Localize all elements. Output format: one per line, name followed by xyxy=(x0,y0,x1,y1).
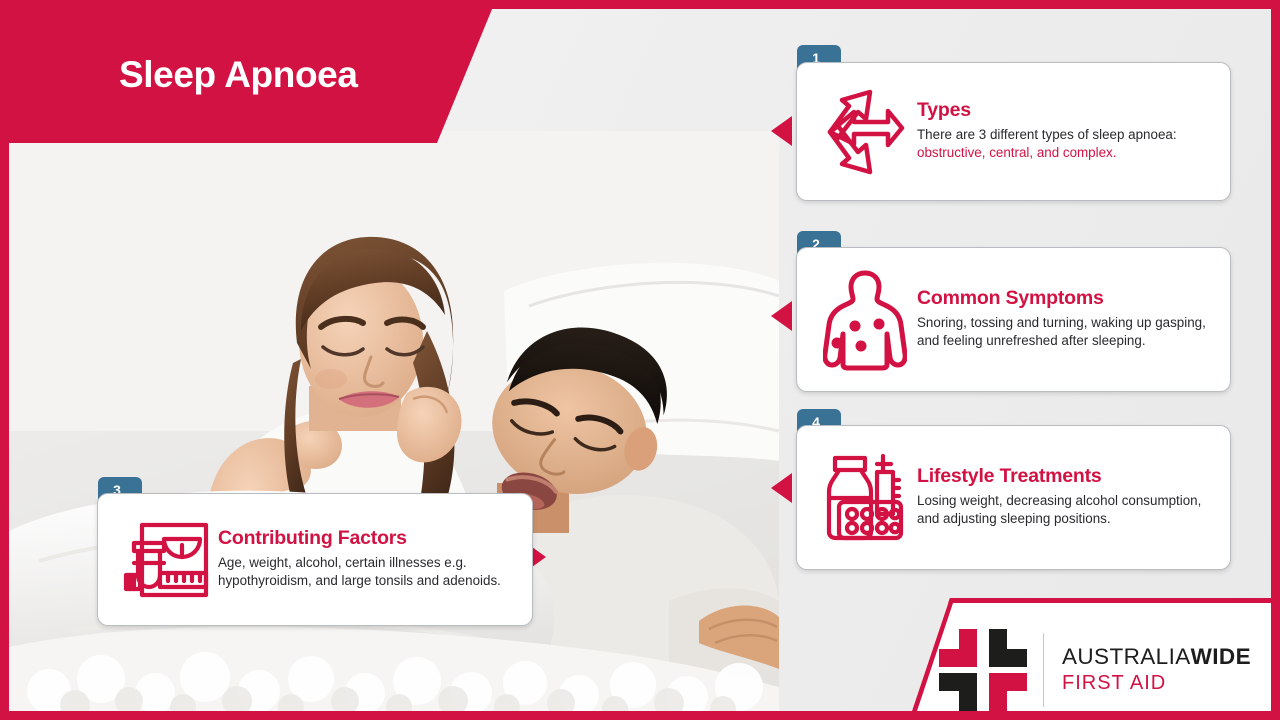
title-banner: Sleep Apnoea xyxy=(9,9,497,143)
logo-wordmark: AUSTRALIAWIDE FIRST AID xyxy=(1062,644,1251,696)
card-title: Contributing Factors xyxy=(218,528,512,549)
pointer-triangle-card-2 xyxy=(771,301,792,331)
logo-wide: WIDE xyxy=(1191,644,1251,669)
logo-divider xyxy=(1043,633,1044,707)
card-text: Losing weight, decreasing alcohol consum… xyxy=(917,492,1210,529)
weight-scale-tape-icon xyxy=(114,517,218,603)
card-common-symptoms[interactable]: Common Symptoms Snoring, tossing and tur… xyxy=(796,247,1231,392)
logo-line-2: FIRST AID xyxy=(1062,672,1251,696)
logo-australia: AUSTRALIA xyxy=(1062,644,1191,669)
card-title: Common Symptoms xyxy=(917,288,1210,309)
card-types-body: Types There are 3 different types of sle… xyxy=(917,100,1214,163)
poster-inner: Sleep Apnoea 1 Types There are 3 differe… xyxy=(9,9,1271,711)
card-contributing-factors[interactable]: Contributing Factors Age, weight, alcoho… xyxy=(97,493,533,626)
pointer-triangle-card-4 xyxy=(771,473,792,503)
card-contributing-factors-body: Contributing Factors Age, weight, alcoho… xyxy=(218,528,516,591)
card-title: Lifestyle Treatments xyxy=(917,466,1210,487)
card-types[interactable]: Types There are 3 different types of sle… xyxy=(796,62,1231,201)
page-title: Sleep Apnoea xyxy=(119,54,358,96)
card-lifestyle-treatments-body: Lifestyle Treatments Losing weight, decr… xyxy=(917,466,1214,529)
card-text: Snoring, tossing and turning, waking up … xyxy=(917,314,1210,351)
card-text-plain: There are 3 different types of sleep apn… xyxy=(917,127,1177,142)
card-title: Types xyxy=(917,100,1210,121)
card-text-highlight: obstructive, central, and complex. xyxy=(917,145,1116,160)
brand-logo: AUSTRALIAWIDE FIRST AID xyxy=(937,627,1251,711)
pointer-triangle-card-1 xyxy=(771,116,792,146)
logo-line-1: AUSTRALIAWIDE xyxy=(1062,644,1251,671)
card-text: There are 3 different types of sleep apn… xyxy=(917,126,1210,163)
infographic-poster: Sleep Apnoea 1 Types There are 3 differe… xyxy=(0,0,1280,720)
card-lifestyle-treatments[interactable]: Lifestyle Treatments Losing weight, decr… xyxy=(796,425,1231,570)
medicine-bottle-syringe-pills-icon xyxy=(813,452,917,544)
three-way-arrow-icon xyxy=(813,78,917,186)
card-common-symptoms-body: Common Symptoms Snoring, tossing and tur… xyxy=(917,288,1214,351)
body-symptoms-icon xyxy=(813,268,917,372)
four-quadrant-cross-logo xyxy=(937,627,1029,711)
card-text: Age, weight, alcohol, certain illnesses … xyxy=(218,554,512,591)
